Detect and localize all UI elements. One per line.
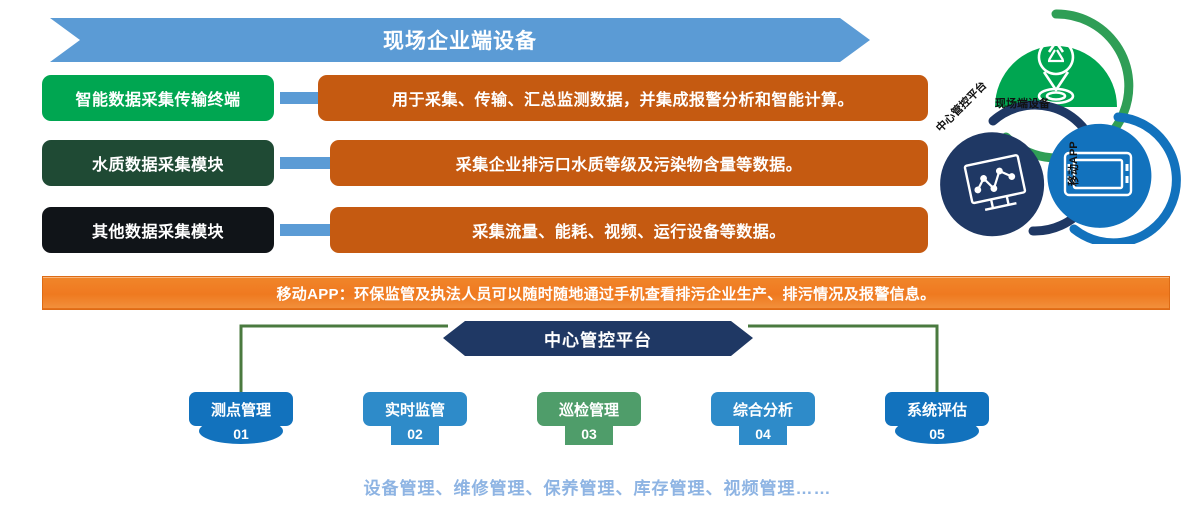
desc-box-2-text: 采集企业排污口水质等级及污染物含量等数据。 [456, 151, 803, 175]
center-platform-banner: 中心管控平台 [443, 321, 753, 356]
left-box-3[interactable]: 其他数据采集模块 [42, 207, 274, 253]
diagram-canvas: 现场企业端设备 智能数据采集传输终端 用于采集、传输、汇总监测数据，并集成报警分… [0, 0, 1195, 514]
left-box-3-label: 其他数据采集模块 [92, 218, 224, 242]
node-3-number: 03 [537, 426, 641, 446]
header-banner: 现场企业端设备 [50, 18, 870, 62]
node-1-label: 测点管理 [211, 399, 271, 420]
desc-box-3: 采集流量、能耗、视频、运行设备等数据。 [330, 207, 928, 253]
mobile-app-label: 移动APP [1065, 141, 1081, 186]
node-4-number: 04 [711, 426, 815, 446]
node-3-label: 巡检管理 [559, 399, 619, 420]
node-5-chip: 系统评估 [885, 392, 989, 426]
left-box-1[interactable]: 智能数据采集传输终端 [42, 75, 274, 121]
desc-box-1-text: 用于采集、传输、汇总监测数据，并集成报警分析和智能计算。 [392, 86, 854, 110]
node-5-label: 系统评估 [907, 399, 967, 420]
node-3-chip: 巡检管理 [537, 392, 641, 426]
node-system-evaluation[interactable]: 系统评估 05 [885, 392, 989, 440]
center-platform-title: 中心管控平台 [544, 326, 652, 351]
left-box-2[interactable]: 水质数据采集模块 [42, 140, 274, 186]
node-2-chip: 实时监管 [363, 392, 467, 426]
header-banner-title: 现场企业端设备 [383, 25, 537, 55]
mobile-app-bar-text: 移动APP：环保监管及执法人员可以随时随地通过手机查看排污企业生产、排污情况及报… [276, 283, 935, 304]
node-4-label: 综合分析 [733, 399, 793, 420]
node-5-number: 05 [885, 426, 989, 446]
mobile-app-bar: 移动APP：环保监管及执法人员可以随时随地通过手机查看排污企业生产、排污情况及报… [42, 276, 1170, 310]
node-2-label: 实时监管 [385, 399, 445, 420]
node-2-number: 02 [363, 426, 467, 446]
field-device-label: 现场端设备 [995, 95, 1050, 111]
node-realtime-supervision[interactable]: 实时监管 02 [363, 392, 467, 440]
desc-box-2: 采集企业排污口水质等级及污染物含量等数据。 [330, 140, 928, 186]
left-box-1-label: 智能数据采集传输终端 [75, 86, 240, 110]
left-box-2-label: 水质数据采集模块 [92, 151, 224, 175]
node-measurement-point[interactable]: 测点管理 01 [189, 392, 293, 440]
node-inspection-management[interactable]: 巡检管理 03 [537, 392, 641, 440]
circle-cluster: 现场端设备 中心管控平台 移动APP [920, 2, 1192, 244]
node-4-chip: 综合分析 [711, 392, 815, 426]
footer-text: 设备管理、维修管理、保养管理、库存管理、视频管理…… [0, 474, 1195, 499]
node-1-chip: 测点管理 [189, 392, 293, 426]
node-1-number: 01 [189, 426, 293, 446]
node-comprehensive-analysis[interactable]: 综合分析 04 [711, 392, 815, 440]
desc-box-1: 用于采集、传输、汇总监测数据，并集成报警分析和智能计算。 [318, 75, 928, 121]
desc-box-3-text: 采集流量、能耗、视频、运行设备等数据。 [472, 218, 786, 242]
